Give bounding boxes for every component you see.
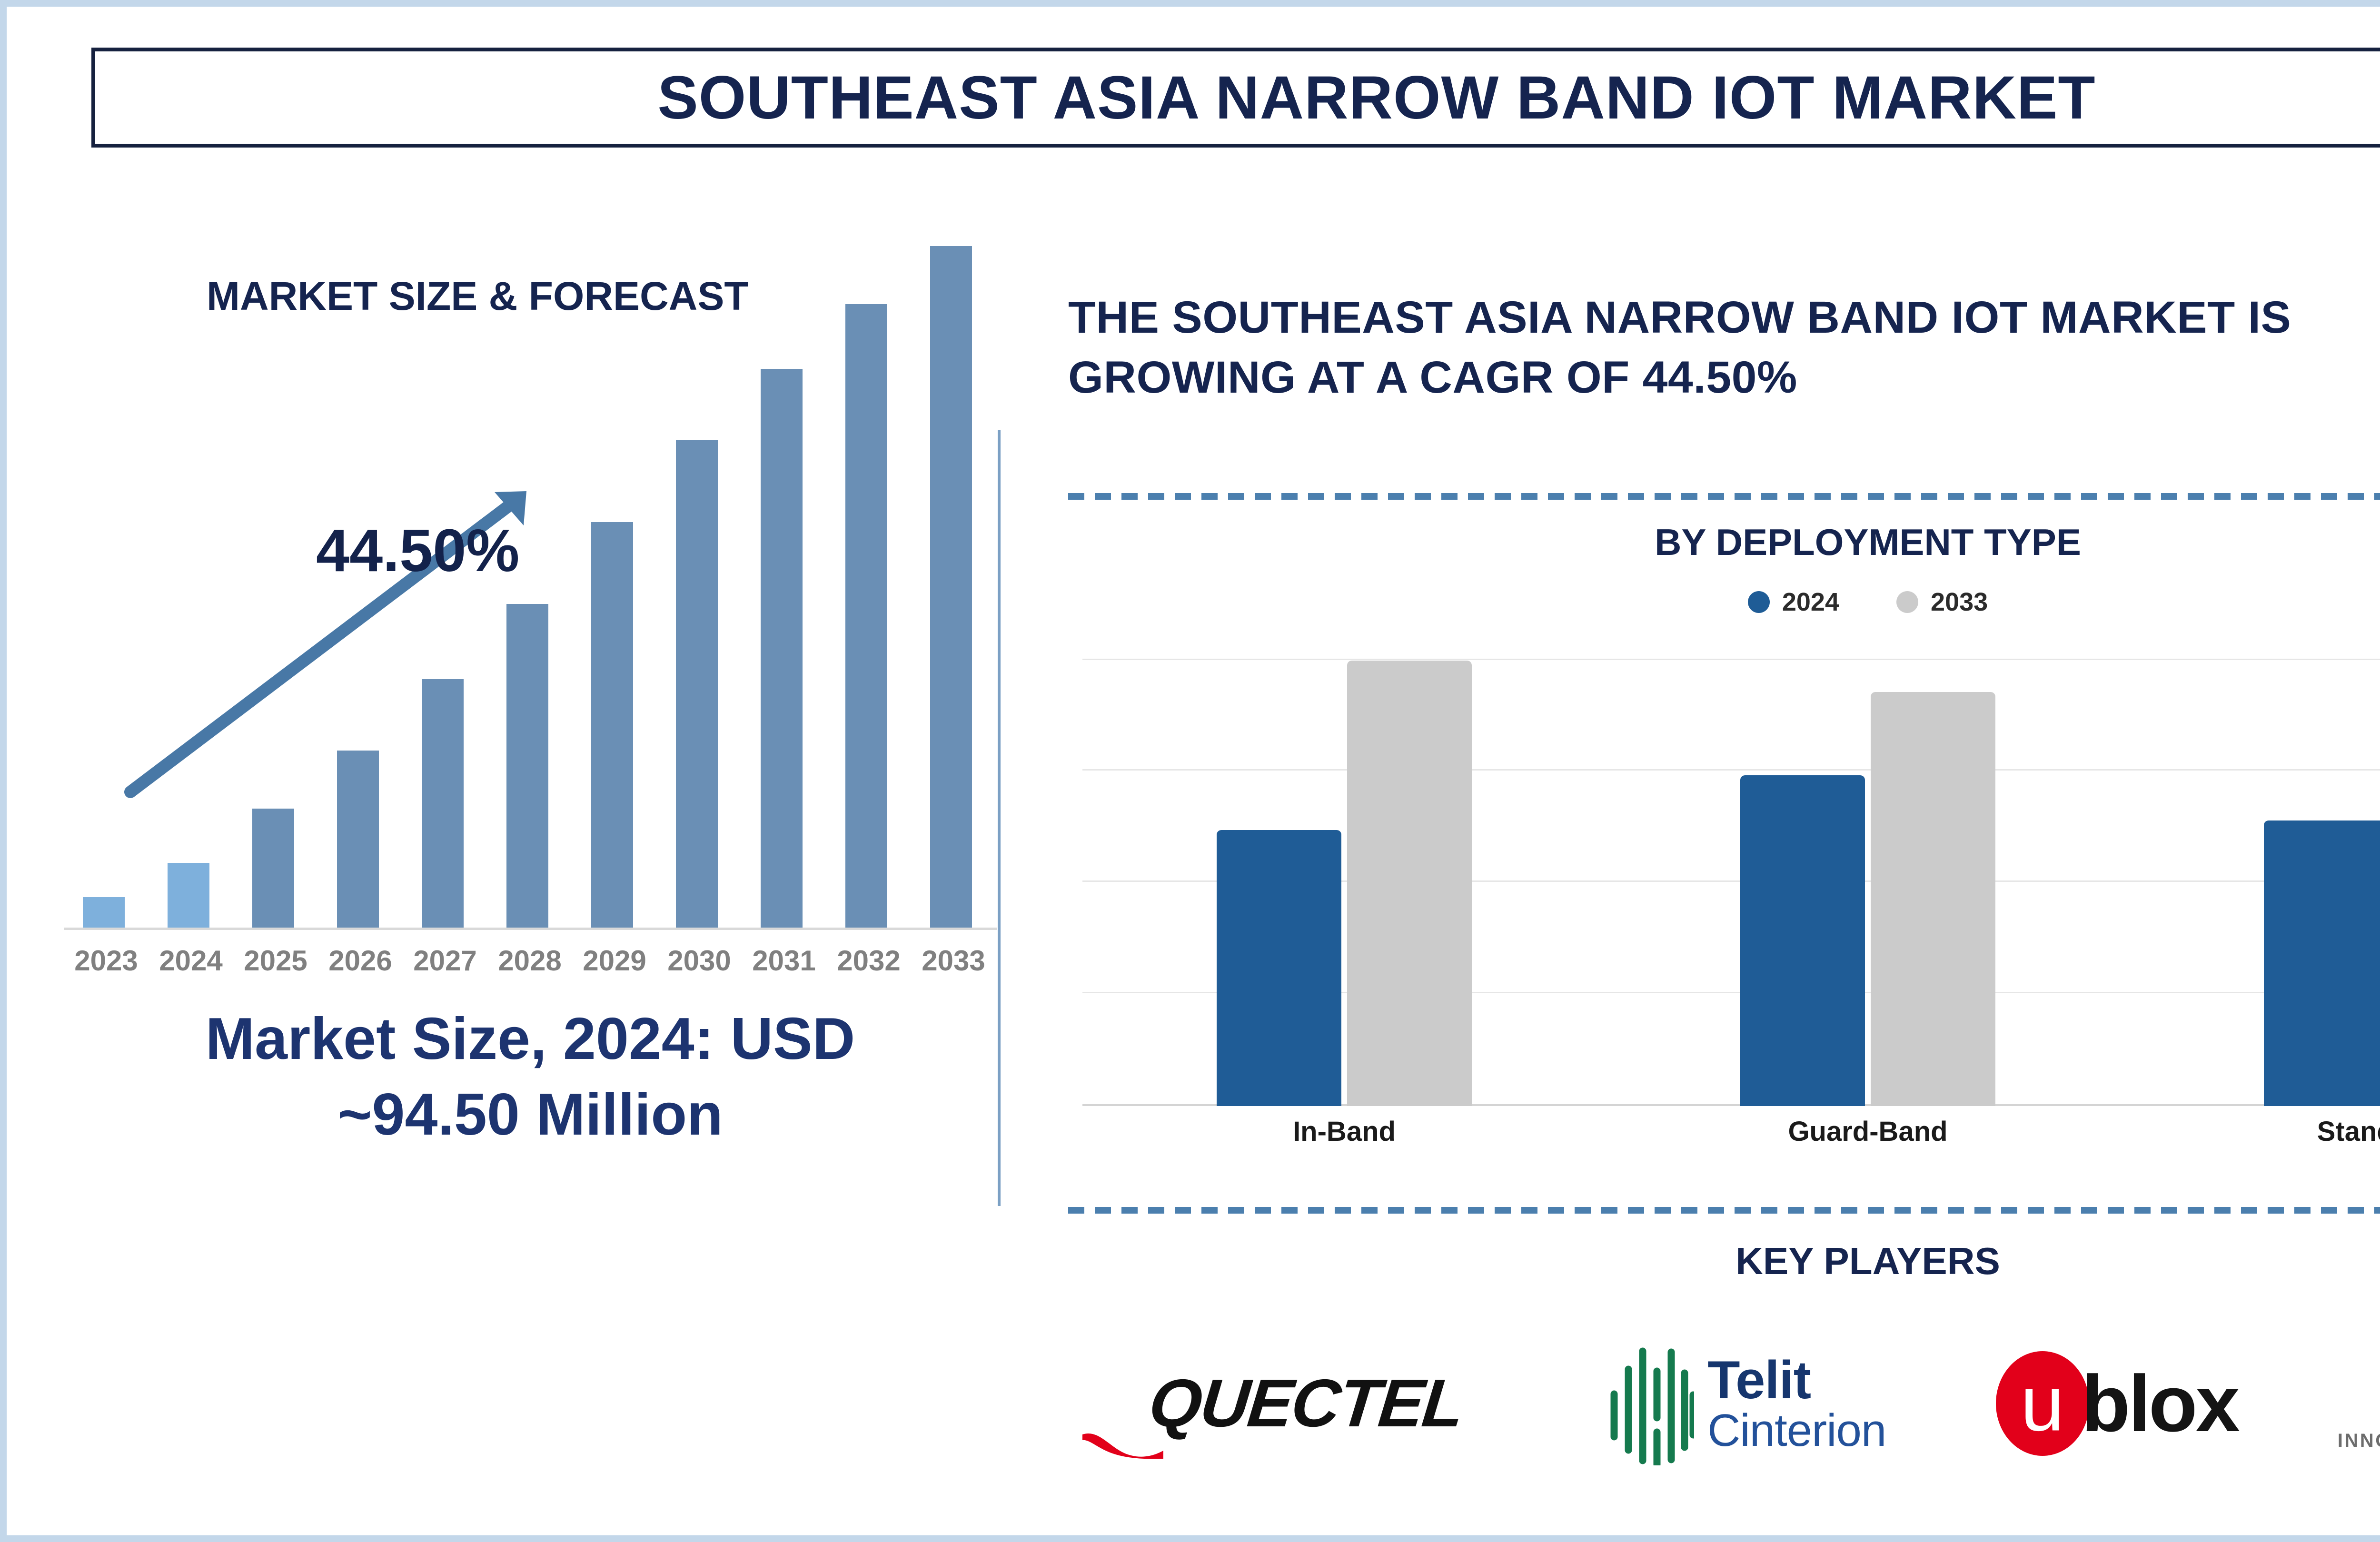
divider-dashed-top bbox=[1068, 493, 2380, 500]
market-size-line-2: ~94.50 Million bbox=[64, 1077, 997, 1153]
panel-divider bbox=[998, 430, 1001, 1206]
market-size-heading: MARKET SIZE & FORECAST bbox=[207, 273, 749, 319]
cinterion-wordmark: Cinterion bbox=[1707, 1407, 1886, 1454]
bar-in-band-2024 bbox=[1217, 830, 1341, 1106]
logo-quectel: QUECTEL bbox=[1068, 1325, 1544, 1482]
deployment-plot-area bbox=[1082, 659, 2380, 1106]
legend-label: 2033 bbox=[1931, 587, 1988, 617]
bar-2032 bbox=[845, 304, 887, 928]
bar-group-in-band bbox=[1082, 659, 1606, 1106]
bar-group-standalone bbox=[2130, 659, 2380, 1106]
bar-2030 bbox=[676, 440, 718, 928]
divider-dashed-bottom bbox=[1068, 1207, 2380, 1214]
year-label: 2033 bbox=[911, 944, 996, 977]
bar-2029 bbox=[591, 522, 633, 928]
legend-item-2033: 2033 bbox=[1896, 587, 1988, 617]
bar-2031 bbox=[761, 369, 803, 928]
telit-wordmark: Telit bbox=[1707, 1353, 1886, 1407]
year-label: 2030 bbox=[657, 944, 742, 977]
bar-2026 bbox=[337, 751, 379, 928]
bar-in-band-2033 bbox=[1347, 661, 1472, 1106]
bar-2023 bbox=[83, 897, 125, 928]
bar-2024 bbox=[168, 863, 209, 928]
cagr-headline: THE SOUTHEAST ASIA NARROW BAND IOT MARKE… bbox=[1068, 287, 2380, 408]
bar-standalone-2024 bbox=[2264, 820, 2380, 1106]
bar-2027 bbox=[422, 679, 464, 928]
legend-label: 2024 bbox=[1782, 587, 1839, 617]
quectel-swoosh-icon bbox=[1081, 1432, 1165, 1459]
legend-dot-icon bbox=[1748, 591, 1770, 613]
year-label: 2025 bbox=[233, 944, 318, 977]
bar-2028 bbox=[506, 604, 548, 928]
market-size-forecast-chart: 44.50% bbox=[64, 368, 997, 930]
deployment-category-labels: In-Band Guard-Band Standalone bbox=[1082, 1116, 2380, 1158]
year-label: 2032 bbox=[826, 944, 911, 977]
bar-2025 bbox=[252, 809, 294, 928]
market-size-value: Market Size, 2024: USD ~94.50 Million bbox=[64, 1001, 997, 1152]
year-label: 2027 bbox=[403, 944, 487, 977]
year-label: 2024 bbox=[149, 944, 233, 977]
category-label-standalone: Standalone bbox=[2317, 1116, 2380, 1147]
year-label: 2026 bbox=[318, 944, 403, 977]
telit-wordmark-group: Telit Cinterion bbox=[1707, 1353, 1886, 1454]
key-players-logos: QUECTEL bbox=[1068, 1315, 2380, 1492]
logo-telit-cinterion: Telit Cinterion bbox=[1567, 1325, 1928, 1482]
category-label-guard-band: Guard-Band bbox=[1788, 1116, 1947, 1147]
year-label: 2031 bbox=[742, 944, 826, 977]
category-label-in-band: In-Band bbox=[1293, 1116, 1396, 1147]
year-label: 2023 bbox=[64, 944, 149, 977]
quectel-wordmark: QUECTEL bbox=[1146, 1364, 1467, 1443]
year-label: 2028 bbox=[487, 944, 572, 977]
ublox-wordmark: blox bbox=[2082, 1358, 2238, 1450]
chart-baseline bbox=[64, 928, 997, 930]
ublox-u-letter: u bbox=[2021, 1364, 2064, 1443]
deployment-type-chart bbox=[1082, 659, 2380, 1106]
deployment-type-title: BY DEPLOYMENT TYPE bbox=[1068, 521, 2380, 564]
page-title: SOUTHEAST ASIA NARROW BAND IOT MARKET bbox=[657, 63, 2095, 133]
telit-waveform-icon bbox=[1608, 1342, 1694, 1465]
bar-guard-band-2033 bbox=[1871, 692, 1995, 1106]
bar-group-guard-band bbox=[1606, 659, 2130, 1106]
logo-murata: muRata INNOVATOR IN ELECTRONICS bbox=[2306, 1325, 2380, 1482]
key-players-title: KEY PLAYERS bbox=[1068, 1239, 2380, 1283]
year-label: 2029 bbox=[572, 944, 657, 977]
logo-ublox: u blox bbox=[1950, 1325, 2283, 1482]
infographic-page: SOUTHEAST ASIA NARROW BAND IOT MARKET MA… bbox=[0, 0, 2380, 1542]
bar-2033 bbox=[930, 246, 972, 928]
deployment-legend: 2024 2033 bbox=[1068, 587, 2380, 617]
cagr-annotation: 44.50% bbox=[316, 516, 519, 585]
ublox-circle-icon: u bbox=[1996, 1351, 2089, 1456]
market-size-line-1: Market Size, 2024: USD bbox=[64, 1001, 997, 1077]
year-axis-labels: 2023 2024 2025 2026 2027 2028 2029 2030 … bbox=[64, 944, 997, 977]
legend-dot-icon bbox=[1896, 591, 1918, 613]
market-size-panel: MARKET SIZE & FORECAST 44.50% 2023 2024 bbox=[64, 211, 997, 1492]
bar-guard-band-2024 bbox=[1740, 775, 1865, 1106]
title-box: SOUTHEAST ASIA NARROW BAND IOT MARKET bbox=[91, 48, 2380, 148]
murata-tagline: INNOVATOR IN ELECTRONICS bbox=[2338, 1430, 2380, 1452]
legend-item-2024: 2024 bbox=[1748, 587, 1839, 617]
right-panel: THE SOUTHEAST ASIA NARROW BAND IOT MARKE… bbox=[1068, 211, 2380, 1492]
